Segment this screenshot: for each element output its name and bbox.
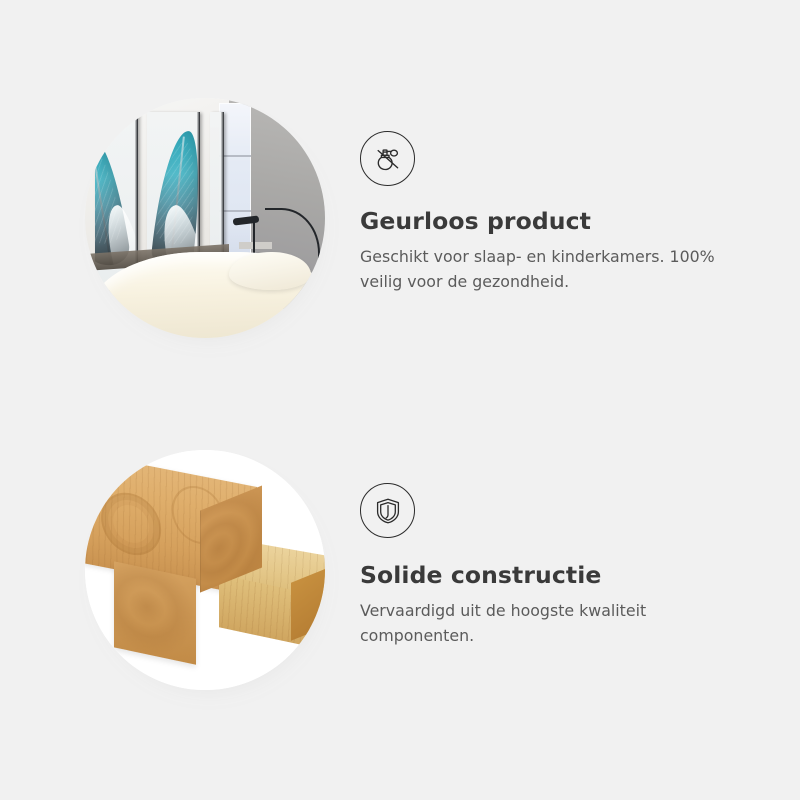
feature-title: Solide constructie (360, 562, 760, 589)
feature-description: Vervaardigd uit de hoogste kwaliteit com… (360, 598, 745, 648)
shield-icon (360, 483, 415, 538)
circular-photo-bedroom (85, 98, 325, 338)
feature-image-solid-construction (85, 450, 325, 690)
feature-text-solid-construction: Solide constructie Vervaardigd uit de ho… (360, 562, 760, 648)
bedroom-scene (85, 98, 325, 338)
feature-list-page: Geurloos product Geschikt voor slaap- en… (0, 0, 800, 800)
shield-glyph (371, 494, 405, 528)
wood-grain-knot (100, 488, 161, 561)
circular-photo-wooden-beams (85, 450, 325, 690)
feature-row-odourless-product: Geurloos product Geschikt voor slaap- en… (0, 98, 800, 358)
feature-title: Geurloos product (360, 208, 760, 235)
no-perfume-icon (360, 131, 415, 186)
no-perfume-glyph (370, 141, 406, 177)
feature-row-solid-construction: Solide constructie Vervaardigd uit de ho… (0, 450, 800, 710)
wood-beam-lower-end-grain (114, 561, 196, 665)
feature-text-odourless-product: Geurloos product Geschikt voor slaap- en… (360, 208, 760, 294)
feature-image-odourless-product (85, 98, 325, 338)
wooden-beams-scene (85, 450, 325, 690)
feature-description: Geschikt voor slaap- en kinderkamers. 10… (360, 244, 745, 294)
bed-pillow (229, 252, 311, 290)
